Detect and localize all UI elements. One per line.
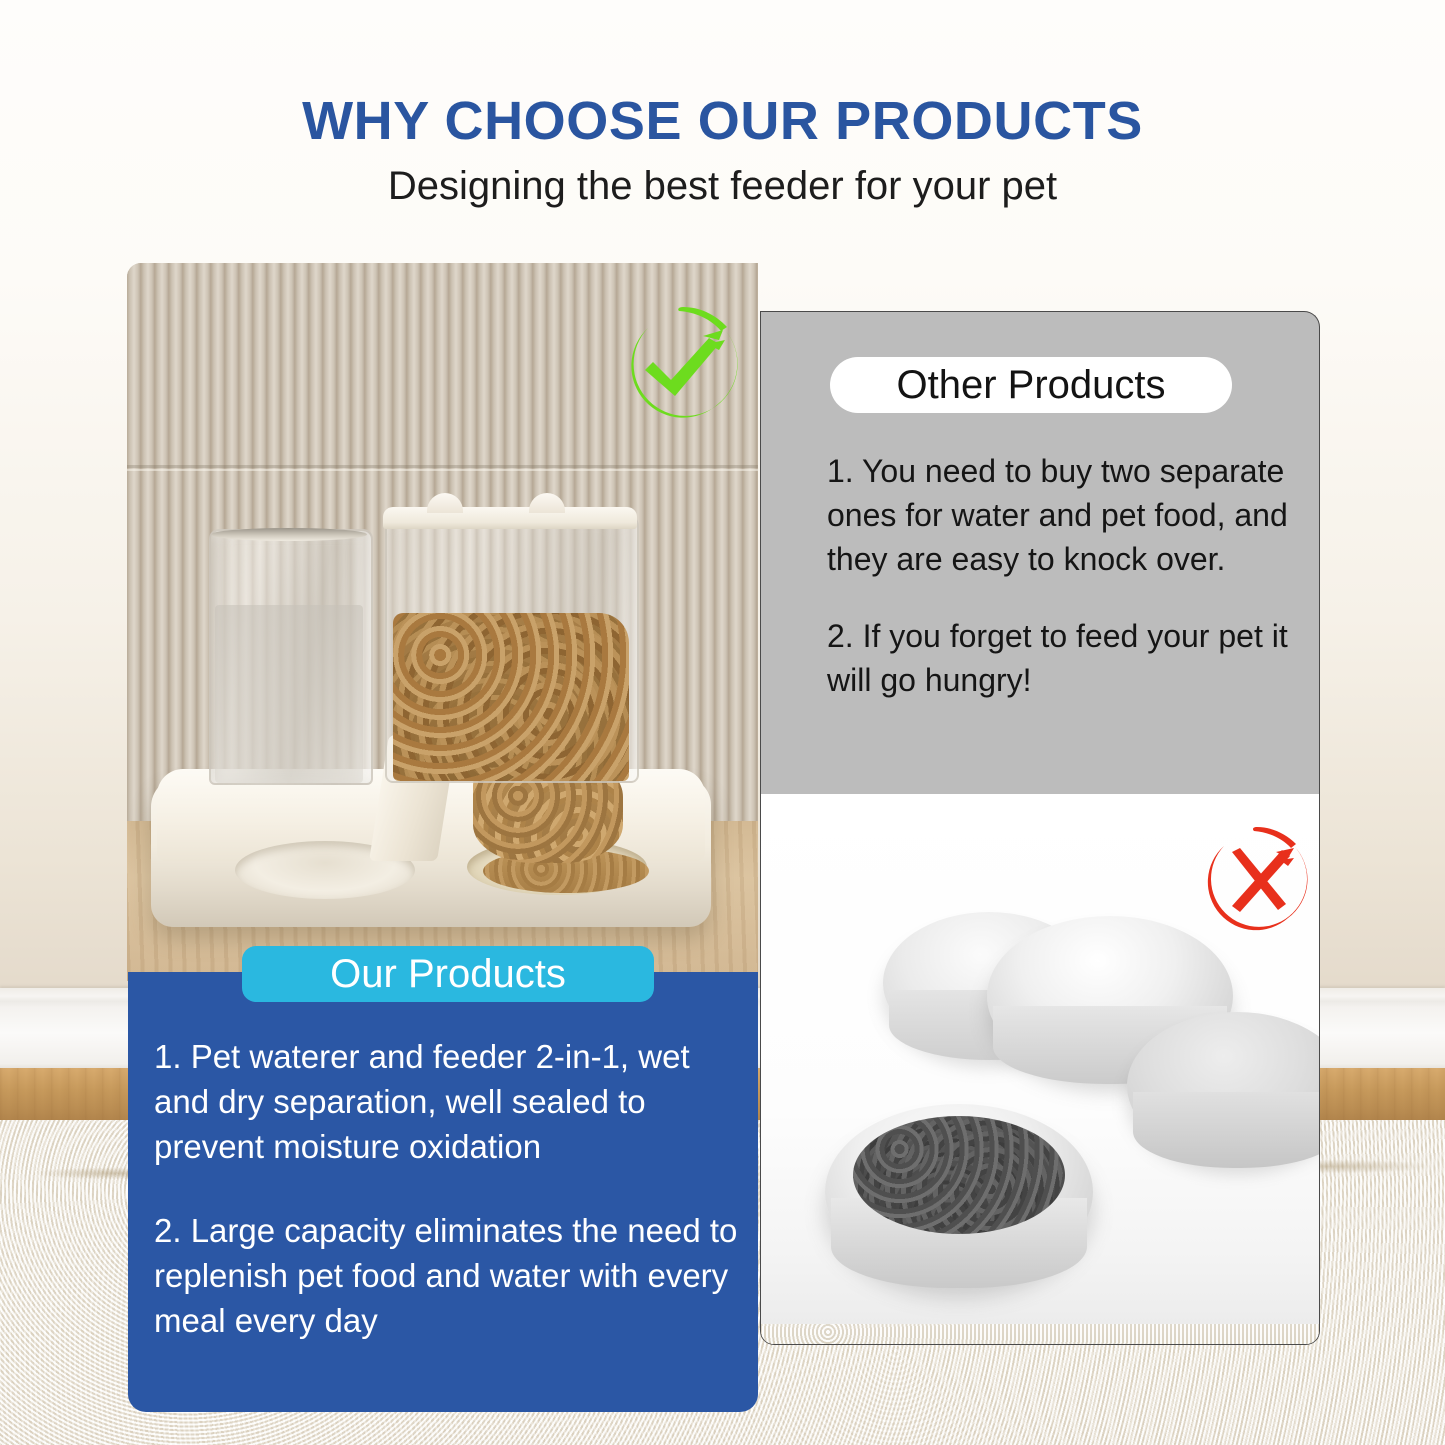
other-products-point-1: 1. You need to buy two separate ones for…: [827, 450, 1289, 581]
header: WHY CHOOSE OUR PRODUCTS Designing the be…: [0, 92, 1445, 208]
our-products-badge: Our Products: [242, 946, 654, 1002]
bowl-front-kibble: [853, 1116, 1065, 1234]
bowl-right-base: [1133, 1092, 1320, 1168]
feeder-kibble-in-tank: [393, 613, 629, 781]
our-products-point-2: 2. Large capacity eliminates the need to…: [154, 1208, 740, 1344]
other-products-point-2: 2. If you forget to feed your pet it wil…: [827, 615, 1289, 703]
photo-wall-seam: [127, 465, 758, 468]
feeder-food-lid: [383, 507, 637, 529]
page-subtitle: Designing the best feeder for your pet: [0, 164, 1445, 208]
our-products-point-1: 1. Pet waterer and feeder 2-in-1, wet an…: [154, 1034, 740, 1170]
feeder-water-tank-rim: [211, 528, 367, 541]
page-title: WHY CHOOSE OUR PRODUCTS: [0, 92, 1445, 150]
bowls-photo-bottom-strip: [761, 1324, 1319, 1344]
our-products-panel: Our Products 1. Pet waterer and feeder 2…: [128, 972, 758, 1412]
other-products-panel: Other Products 1. You need to buy two se…: [760, 311, 1320, 794]
photo-wall-seam-highlight: [127, 469, 758, 471]
cross-circle-icon: [1196, 822, 1318, 944]
feeder-water-level: [215, 605, 363, 783]
our-products-points: 1. Pet waterer and feeder 2-in-1, wet an…: [154, 1034, 740, 1343]
check-circle-icon: [615, 300, 747, 432]
other-products-points: 1. You need to buy two separate ones for…: [827, 450, 1289, 703]
infographic-page: WHY CHOOSE OUR PRODUCTS Designing the be…: [0, 0, 1445, 1445]
other-products-badge: Other Products: [830, 357, 1232, 413]
